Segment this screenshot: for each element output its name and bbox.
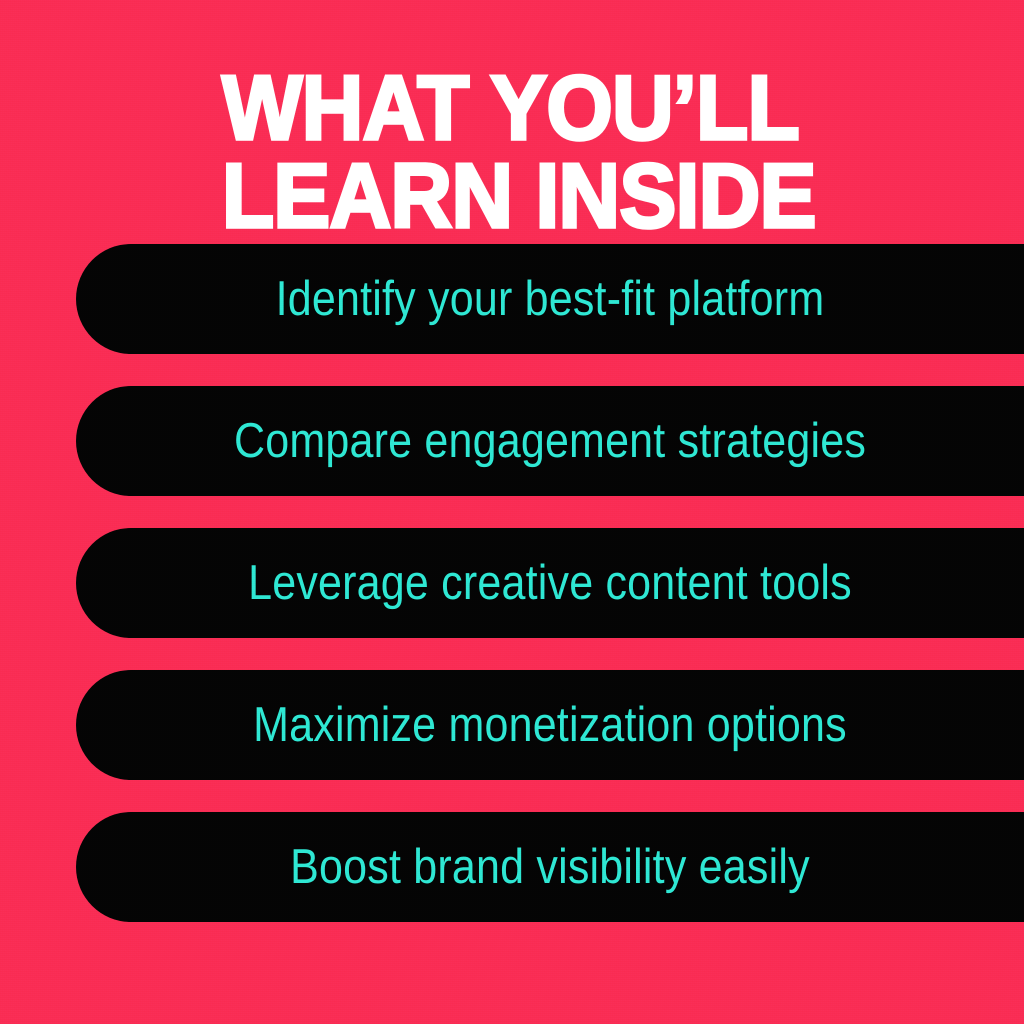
- list-item-label: Identify your best-fit platform: [276, 272, 825, 327]
- list-item: Maximize monetization options: [76, 670, 1024, 780]
- list-item-label: Boost brand visibility easily: [290, 840, 810, 895]
- list-item: Leverage creative content tools: [76, 528, 1024, 638]
- list-item: Identify your best-fit platform: [76, 244, 1024, 354]
- benefits-list: Identify your best-fit platform Compare …: [76, 244, 1024, 922]
- list-item: Boost brand visibility easily: [76, 812, 1024, 922]
- list-item-label: Compare engagement strategies: [234, 414, 866, 469]
- poster-canvas: WHAT YOU’LL LEARN INSIDE Identify your b…: [0, 0, 1024, 1024]
- page-title-line-1: WHAT YOU’LL: [222, 66, 1006, 152]
- page-title-line-2: LEARN INSIDE: [222, 154, 1006, 240]
- page-title: WHAT YOU’LL LEARN INSIDE: [222, 66, 922, 226]
- list-item-label: Maximize monetization options: [253, 698, 847, 753]
- list-item-label: Leverage creative content tools: [248, 556, 852, 611]
- list-item: Compare engagement strategies: [76, 386, 1024, 496]
